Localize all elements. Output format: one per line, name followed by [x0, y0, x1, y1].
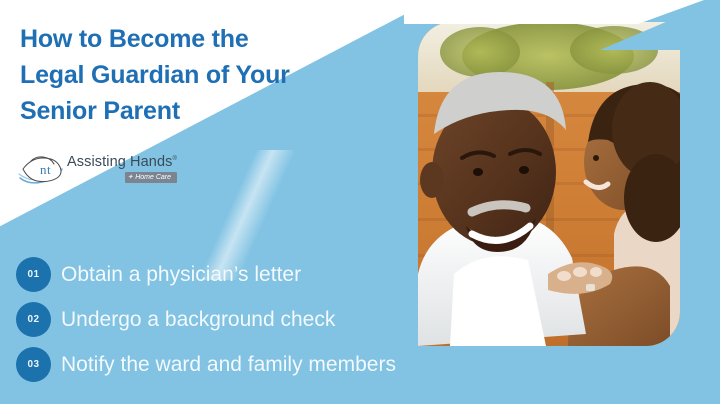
step-number-badge: 02	[16, 302, 51, 337]
page-title-line-3: Senior Parent	[20, 94, 410, 130]
svg-text:n: n	[40, 162, 47, 177]
page-title: How to Become the Legal Guardian of Your…	[20, 22, 410, 129]
steps-list: 01 Obtain a physician’s letter 02 Underg…	[16, 252, 576, 387]
brand-tagline-text: Home Care	[135, 174, 171, 181]
brand-name: Assisting Hands®	[67, 155, 177, 170]
step-number-badge: 03	[16, 347, 51, 382]
promotional-slide: How to Become the Legal Guardian of Your…	[0, 0, 720, 404]
brand-logo-wordmark: Assisting Hands® ✦Home Care	[67, 155, 177, 183]
assisting-hands-hand-icon: n t	[18, 152, 64, 186]
svg-text:t: t	[47, 162, 51, 177]
page-title-line-1: How to Become the	[20, 22, 410, 58]
step-number-badge: 01	[16, 257, 51, 292]
brand-tagline: ✦Home Care	[125, 172, 177, 183]
brand-logo[interactable]: n t Assisting Hands® ✦Home Care	[18, 152, 177, 186]
list-item[interactable]: 01 Obtain a physician’s letter	[16, 252, 576, 297]
brand-name-text: Assisting Hands	[67, 154, 172, 170]
swirl-icon: ✦	[127, 174, 133, 181]
list-item[interactable]: 02 Undergo a background check	[16, 297, 576, 342]
list-item[interactable]: 03 Notify the ward and family members	[16, 342, 576, 387]
step-label: Undergo a background check	[61, 309, 335, 330]
step-label: Notify the ward and family members	[61, 354, 396, 375]
brand-trademark: ®	[172, 156, 177, 162]
page-title-line-2: Legal Guardian of Your	[20, 58, 410, 94]
step-label: Obtain a physician’s letter	[61, 264, 301, 285]
